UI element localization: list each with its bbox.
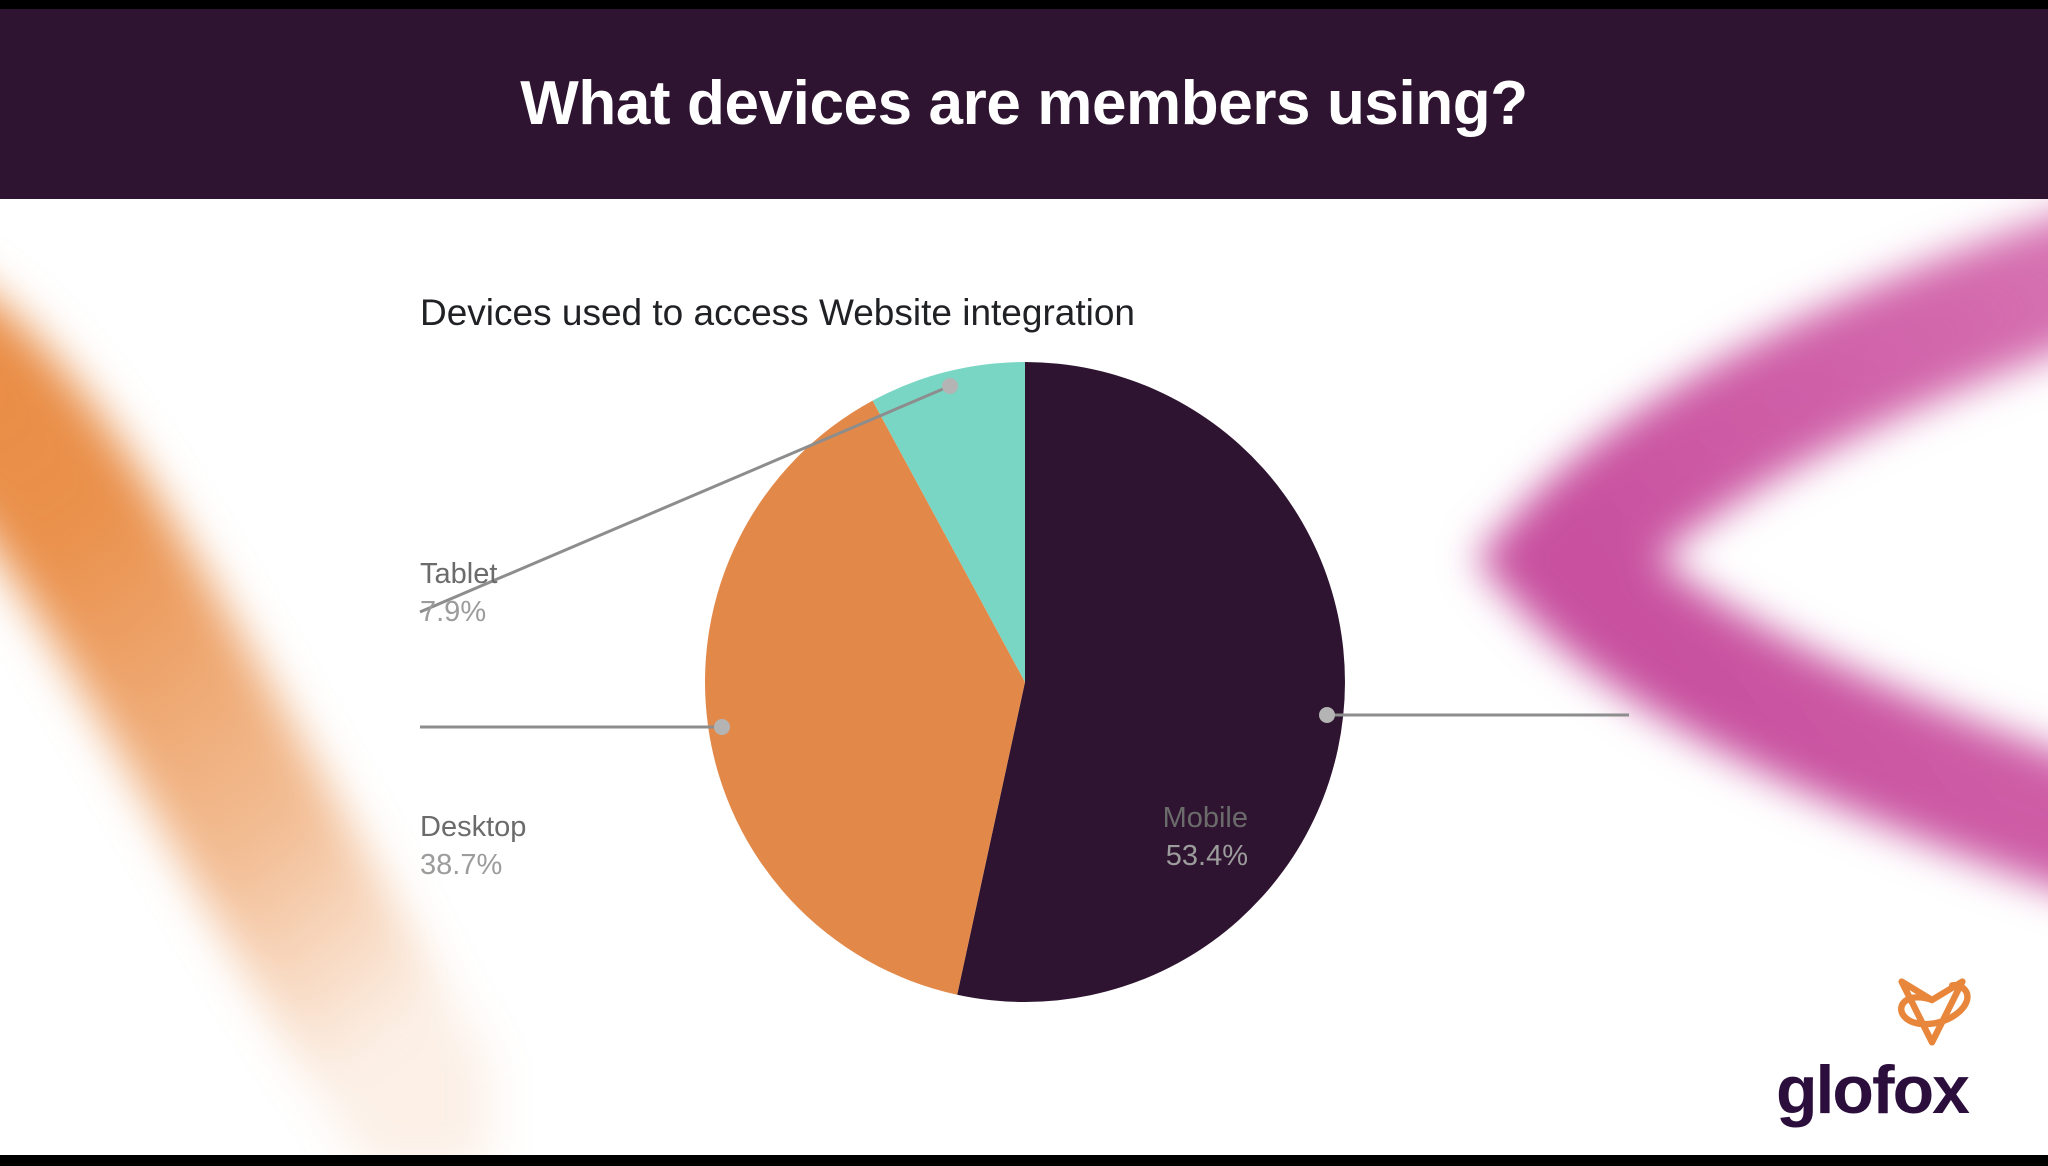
pie-callout-desktop-label: Desktop: [420, 812, 526, 842]
pie-chart-container: Devices used to access Website integrati…: [0, 199, 2048, 1155]
pie-callout-desktop[interactable]: Desktop 38.7%: [420, 812, 526, 881]
pie-callout-desktop-value: 38.7%: [420, 850, 526, 880]
leader-dot-desktop: [714, 719, 730, 735]
leader-dot-tablet: [942, 378, 958, 394]
letterbox-bar-bottom: [0, 1155, 2048, 1166]
slide-header: What devices are members using?: [0, 9, 2048, 199]
pie-chart-svg: [0, 199, 2048, 1155]
pie-callout-tablet-label: Tablet: [420, 559, 497, 589]
slide-canvas: What devices are members using?: [0, 0, 2048, 1166]
leader-dot-mobile: [1319, 707, 1335, 723]
glofox-wordmark: glofox: [1776, 1056, 1968, 1124]
pie-callout-mobile[interactable]: Mobile 53.4%: [1163, 803, 1248, 872]
page-title: What devices are members using?: [520, 73, 1528, 135]
pie-callout-tablet-value: 7.9%: [420, 597, 497, 627]
letterbox-bar-top: [0, 0, 2048, 9]
pie-callout-tablet[interactable]: Tablet 7.9%: [420, 559, 497, 628]
pie-callout-mobile-label: Mobile: [1163, 803, 1248, 833]
glofox-logo: glofox: [1776, 954, 1986, 1124]
pie-callout-mobile-value: 53.4%: [1163, 841, 1248, 871]
glofox-star-icon: [1886, 954, 1978, 1046]
